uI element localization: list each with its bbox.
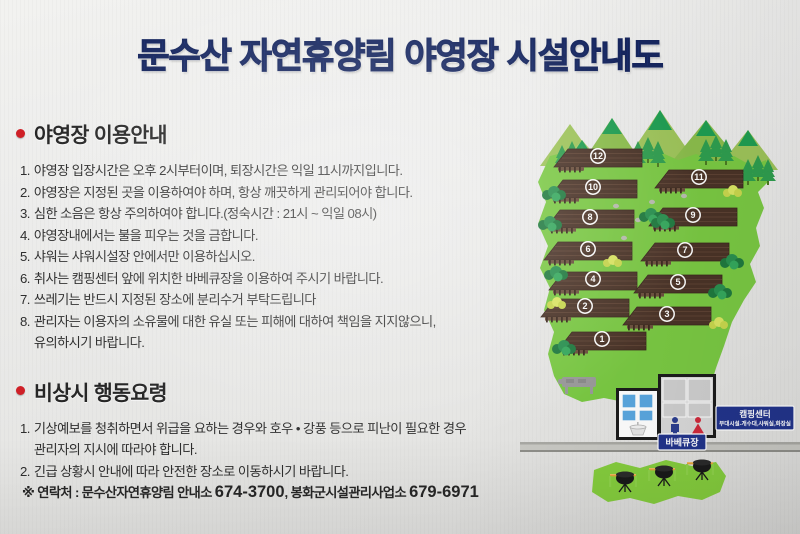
information-text-column: 야영장 이용안내 1. 야영장 입장시간은 오후 2시부터이며, 퇴장시간은 익… (14, 118, 534, 482)
camp-site-number: 10 (588, 182, 598, 192)
list-item: 5. 샤워는 샤워시설장 안에서만 이용하십시오. (20, 246, 534, 268)
list-item: 2. 야영장은 지정된 곳을 이용하여야 하며, 항상 깨끗하게 관리되어야 합… (20, 182, 534, 204)
list-item-number: 2. (20, 182, 30, 204)
camp-site-number: 7 (682, 245, 687, 255)
campground-map: 12 10 11 8 9 6 7 4 5 2 3 1 (520, 96, 800, 534)
camping-center-sublabel-text: 부대시설-개수대,샤워실,화장실 (719, 420, 791, 428)
camp-site-number: 8 (587, 212, 592, 222)
list-item-text: 야영장내에서는 불을 피우는 것을 금합니다. (34, 225, 534, 247)
section-heading-label: 비상시 행동요령 (34, 376, 167, 406)
list-item: 8. 관리자는 이용자의 소유물에 대한 유실 또는 피해에 대하여 책임을 지… (20, 311, 534, 354)
contact-footer: ※ 연락처 : 문수산자연휴양림 안내소 674-3700, 봉화군시설관리사업… (22, 482, 479, 502)
list-item: 1. 기상예보를 청취하면서 위급을 요하는 경우와 호우 • 강풍 등으로 피… (20, 418, 534, 461)
list-item-text: 긴급 상황시 안내에 따라 안전한 장소로 이동하시기 바랍니다. (34, 461, 534, 483)
barbecue-label-text: 바베큐장 (665, 437, 699, 448)
list-item: 1. 야영장 입장시간은 오후 2시부터이며, 퇴장시간은 익일 11시까지입니… (20, 160, 534, 182)
camp-site-number: 3 (664, 309, 669, 319)
list-item-number: 1. (20, 418, 30, 440)
facility-guide-sign: 문수산 자연휴양림 야영장 시설안내도 야영장 이용안내 1. 야영장 입장시간… (0, 0, 800, 534)
campground-rules-list: 1. 야영장 입장시간은 오후 2시부터이며, 퇴장시간은 익일 11시까지입니… (20, 160, 534, 354)
emergency-rules-list: 1. 기상예보를 청취하면서 위급을 요하는 경우와 호우 • 강풍 등으로 피… (20, 418, 534, 483)
list-item-text: 취사는 캠핑센터 앞에 위치한 바베큐장을 이용하여 주시기 바랍니다. (34, 268, 534, 290)
camp-site-number: 12 (593, 151, 603, 161)
bullet-dot-icon (16, 386, 25, 395)
section-heading-label: 야영장 이용안내 (34, 118, 167, 148)
camping-center-label-text: 캠핑센터 (739, 409, 770, 419)
list-item-number: 1. (20, 160, 30, 182)
list-item-number: 3. (20, 203, 30, 225)
list-item: 3. 심한 소음은 항상 주의하여야 합니다.(정숙시간 : 21시 ~ 익일 … (20, 203, 534, 225)
list-item: 6. 취사는 캠핑센터 앞에 위치한 바베큐장을 이용하여 주시기 바랍니다. (20, 268, 534, 290)
camping-center-label: 캠핑센터 부대시설-개수대,샤워실,화장실 (716, 406, 794, 430)
list-item: 2. 긴급 상황시 안내에 따라 안전한 장소로 이동하시기 바랍니다. (20, 461, 534, 483)
contact-phone-facility-office: 679-6971 (409, 483, 479, 501)
list-item-number: 4. (20, 225, 30, 247)
section-emergency-guide: 비상시 행동요령 1. 기상예보를 청취하면서 위급을 요하는 경우와 호우 •… (14, 376, 534, 483)
barbecue-label: 바베큐장 (658, 434, 706, 450)
page-title: 문수산 자연휴양림 야영장 시설안내도 (0, 28, 800, 79)
list-item-number: 7. (20, 289, 30, 311)
contact-middle: , 봉화군시설관리사업소 (285, 485, 410, 500)
list-item-number: 5. (20, 246, 30, 268)
camp-site-number: 11 (694, 172, 704, 182)
contact-phone-info-center: 674-3700 (215, 483, 285, 501)
camp-site-number: 1 (599, 334, 604, 344)
camp-site-number: 5 (675, 277, 680, 287)
list-item-text: 쓰레기는 반드시 지정된 장소에 분리수거 부탁드립니다 (34, 289, 534, 311)
camp-site-number: 4 (590, 274, 595, 284)
list-item-number: 2. (20, 461, 30, 483)
camp-site-number: 9 (690, 210, 695, 220)
camp-site-number: 6 (585, 244, 590, 254)
camp-site-number: 2 (582, 301, 587, 311)
list-item-text: 기상예보를 청취하면서 위급을 요하는 경우와 호우 • 강풍 등으로 피난이 … (34, 418, 534, 461)
bullet-dot-icon (16, 129, 25, 138)
barbecue-area (592, 460, 726, 505)
list-item-text: 관리자는 이용자의 소유물에 대한 유실 또는 피해에 대하여 책임을 지지않으… (34, 311, 534, 354)
list-item-text: 야영장 입장시간은 오후 2시부터이며, 퇴장시간은 익일 11시까지입니다. (34, 160, 534, 182)
contact-prefix: ※ 연락처 : 문수산자연휴양림 안내소 (22, 485, 215, 500)
list-item-text: 심한 소음은 항상 주의하여야 합니다.(정숙시간 : 21시 ~ 익일 08시… (34, 203, 534, 225)
list-item: 7. 쓰레기는 반드시 지정된 장소에 분리수거 부탁드립니다 (20, 289, 534, 311)
section-heading-emergency: 비상시 행동요령 (16, 376, 534, 406)
list-item: 4. 야영장내에서는 불을 피우는 것을 금합니다. (20, 225, 534, 247)
list-item-text: 샤워는 샤워시설장 안에서만 이용하십시오. (34, 246, 534, 268)
section-campground-guide: 야영장 이용안내 1. 야영장 입장시간은 오후 2시부터이며, 퇴장시간은 익… (14, 118, 534, 354)
list-item-number: 6. (20, 268, 30, 290)
list-item-number: 8. (20, 311, 30, 333)
list-item-text: 야영장은 지정된 곳을 이용하여야 하며, 항상 깨끗하게 관리되어야 합니다. (34, 182, 534, 204)
section-heading-campground: 야영장 이용안내 (16, 118, 534, 148)
